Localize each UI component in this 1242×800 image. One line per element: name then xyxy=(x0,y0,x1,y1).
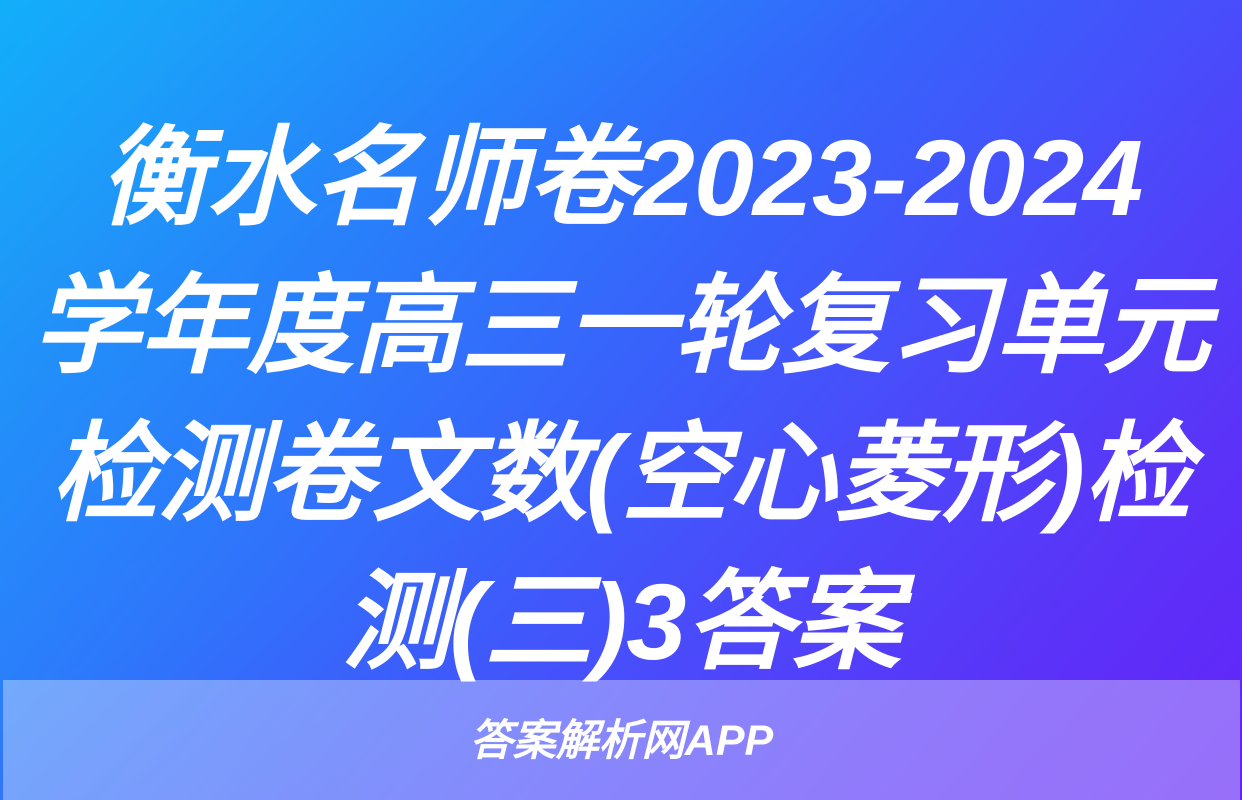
title-line-4: 测(三)3答案 xyxy=(0,548,1242,696)
title-line-1: 衡水名师卷2023-2024 xyxy=(0,104,1242,252)
title-line-3: 检测卷文数(空心菱形)检 xyxy=(0,400,1242,548)
poster-card: 衡水名师卷2023-2024 学年度高三一轮复习单元 检测卷文数(空心菱形)检 … xyxy=(0,0,1242,800)
app-name-label: 答案解析网APP xyxy=(470,716,773,766)
footer-band: 答案解析网APP xyxy=(3,680,1240,800)
page-title: 衡水名师卷2023-2024 学年度高三一轮复习单元 检测卷文数(空心菱形)检 … xyxy=(0,104,1242,696)
title-line-2: 学年度高三一轮复习单元 xyxy=(0,252,1242,400)
